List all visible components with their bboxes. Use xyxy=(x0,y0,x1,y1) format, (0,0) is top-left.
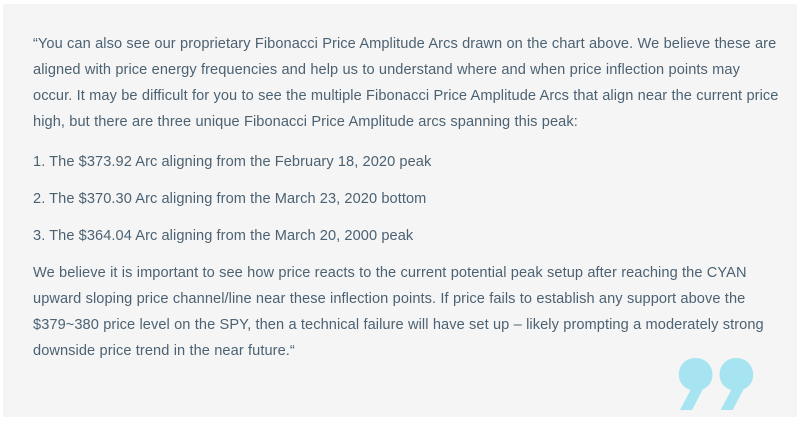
fibonacci-arc-list: 1. The $373.92 Arc aligning from the Feb… xyxy=(33,149,781,249)
quote-intro-paragraph: “You can also see our proprietary Fibona… xyxy=(33,31,781,135)
list-item: 2. The $370.30 Arc aligning from the Mar… xyxy=(33,186,781,212)
quote-body: “You can also see our proprietary Fibona… xyxy=(33,31,781,364)
page-root: “You can also see our proprietary Fibona… xyxy=(0,0,800,423)
list-item: 1. The $373.92 Arc aligning from the Feb… xyxy=(33,149,781,175)
closing-quotation-mark-icon xyxy=(678,356,754,412)
quote-closing-paragraph: We believe it is important to see how pr… xyxy=(33,260,781,364)
list-item: 3. The $364.04 Arc aligning from the Mar… xyxy=(33,223,781,249)
quote-card: “You can also see our proprietary Fibona… xyxy=(3,4,797,417)
